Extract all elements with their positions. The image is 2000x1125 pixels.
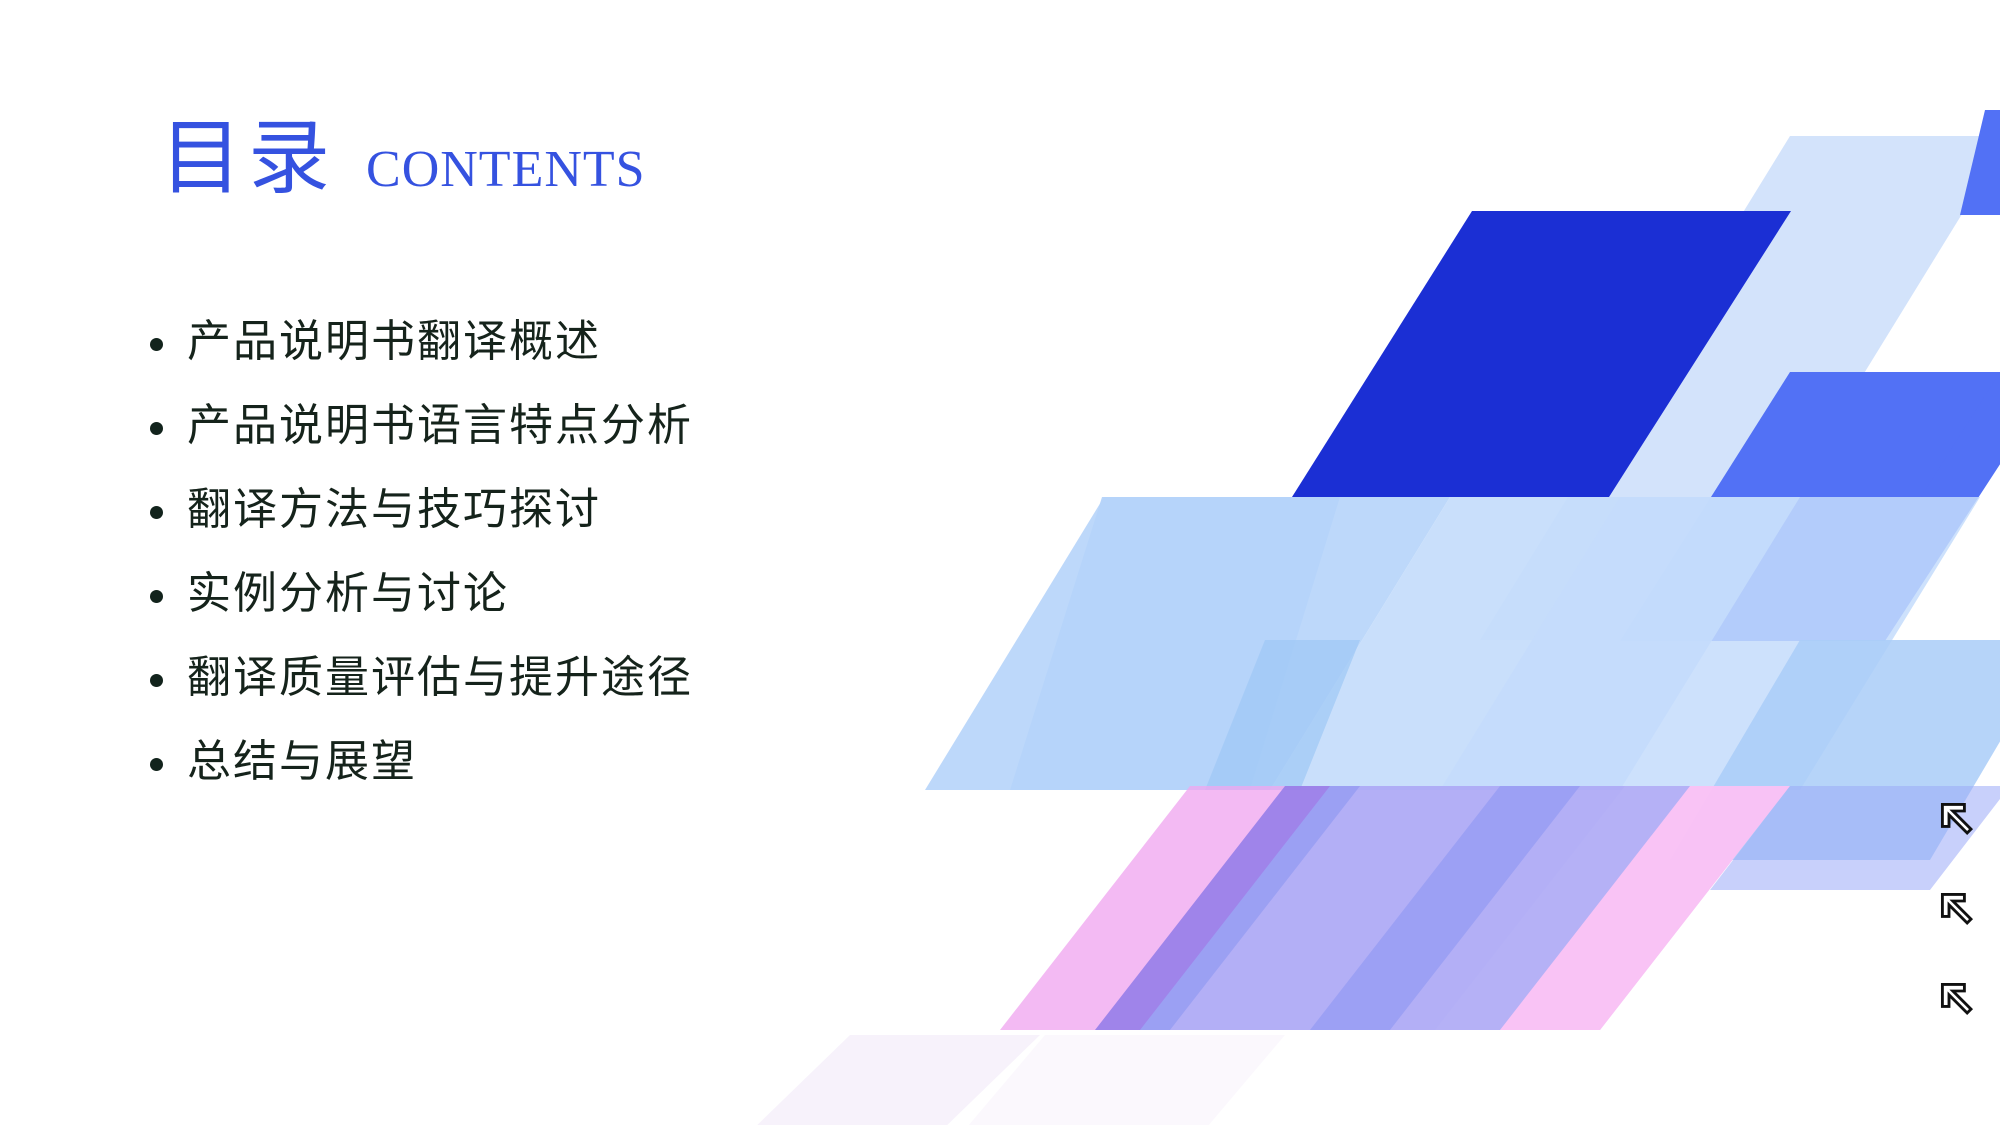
shape-pink-band (1000, 786, 1790, 1030)
toc-item-label: 翻译方法与技巧探讨 (187, 486, 601, 534)
bullet-dot-icon (150, 506, 163, 519)
list-item[interactable]: 总结与展望 (150, 720, 850, 804)
bullet-dot-icon (150, 758, 163, 771)
shape-faint-lilac-bottom-2 (880, 1035, 1285, 1125)
bullet-dot-icon (150, 674, 163, 687)
shape-royal-blue-sliver-topright (1960, 110, 2000, 215)
arrow-icon-group (1938, 800, 1982, 1024)
shape-royal-blue-parallelogram-b (1620, 372, 2000, 641)
bullet-dot-icon (150, 590, 163, 603)
list-item[interactable]: 产品说明书翻译概述 (150, 300, 850, 384)
shape-light-blue-right-block (1270, 497, 1800, 790)
arrow-up-left-icon[interactable] (1938, 890, 1982, 934)
arrow-up-left-icon[interactable] (1938, 980, 1982, 1024)
arrow-up-left-icon[interactable] (1938, 800, 1982, 844)
shape-light-blue-left-block (1010, 497, 1340, 790)
content-column: 目录 CONTENTS 产品说明书翻译概述 产品说明书语言特点分析 翻译方法与技… (0, 0, 900, 1125)
shape-overlap-wedge (1205, 640, 1360, 790)
list-item[interactable]: 实例分析与讨论 (150, 552, 850, 636)
toc-item-label: 产品说明书语言特点分析 (187, 402, 693, 450)
shape-pale-blue-band-top (1480, 136, 2000, 640)
shape-royal-blue-parallelogram (1710, 372, 2000, 641)
shape-purple-stripe-left (1095, 786, 1360, 1030)
shape-deep-blue-parallelogram (1292, 211, 1791, 497)
shape-light-blue-right-block-2 (1440, 497, 1980, 790)
toc-item-label: 翻译质量评估与提升途径 (187, 654, 693, 702)
shape-light-blue-left-block-wide (925, 497, 1450, 790)
bullet-dot-icon (150, 338, 163, 351)
shape-light-pink-edge (1435, 786, 1790, 1030)
bullet-dot-icon (150, 422, 163, 435)
page-title-english: CONTENTS (366, 144, 646, 196)
toc-item-label: 总结与展望 (187, 738, 417, 786)
page-title-chinese: 目录 (160, 118, 336, 200)
shape-purple-stripe-right (1310, 786, 1580, 1030)
shape-periwinkle-overlay (1140, 786, 1690, 1030)
list-item[interactable]: 产品说明书语言特点分析 (150, 384, 850, 468)
page-title: 目录 CONTENTS (160, 118, 646, 200)
toc-item-label: 产品说明书翻译概述 (187, 318, 601, 366)
slide-canvas: 目录 CONTENTS 产品说明书翻译概述 产品说明书语言特点分析 翻译方法与技… (0, 0, 2000, 1125)
table-of-contents-list: 产品说明书翻译概述 产品说明书语言特点分析 翻译方法与技巧探讨 实例分析与讨论 … (150, 300, 850, 804)
toc-item-label: 实例分析与讨论 (187, 570, 509, 618)
list-item[interactable]: 翻译方法与技巧探讨 (150, 468, 850, 552)
list-item[interactable]: 翻译质量评估与提升途径 (150, 636, 850, 720)
